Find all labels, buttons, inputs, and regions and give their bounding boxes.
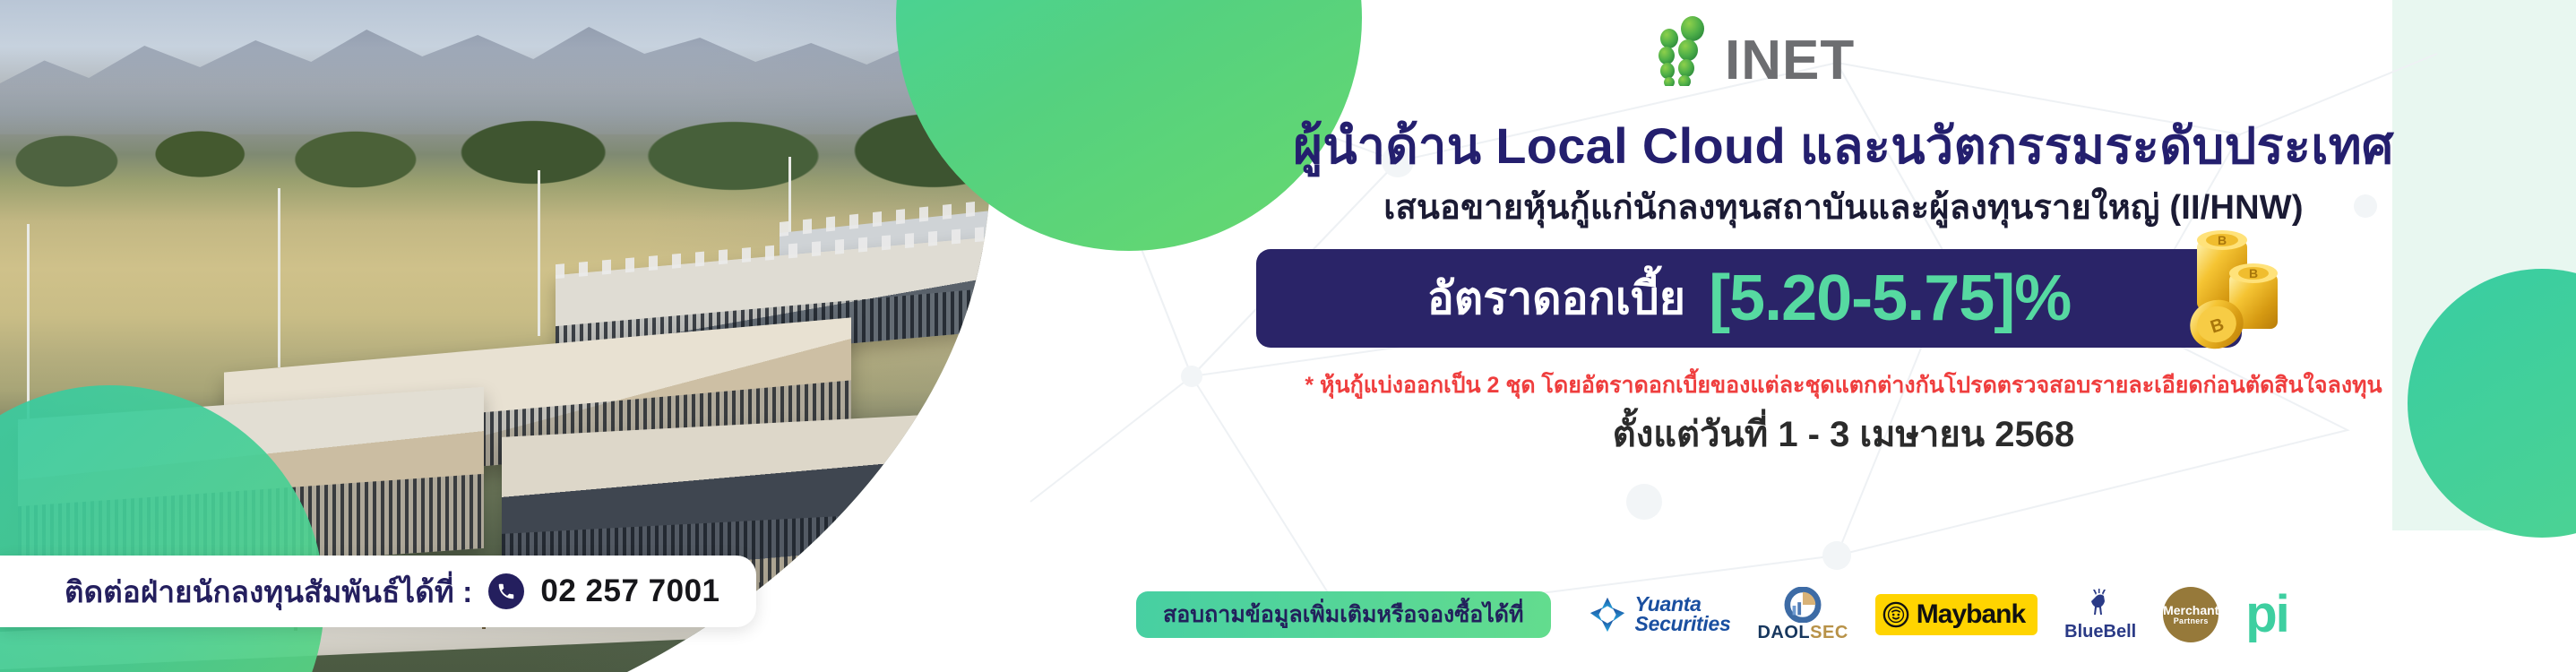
contact-phone-number[interactable]: 02 257 7001: [540, 573, 719, 609]
inet-bond-offering-banner: ติดต่อฝ่ายนักลงทุนสัมพันธ์ได้ที่ : 02 25…: [0, 0, 2576, 672]
inet-dots-icon: [1653, 16, 1719, 86]
partner-logo-pi[interactable]: pi: [2245, 597, 2288, 633]
svg-text:B: B: [2249, 266, 2258, 280]
promo-content-column: INET ผู้นำด้าน Local Cloud และนวัตกรรมระ…: [1111, 0, 2576, 672]
partner-logo-bluebell[interactable]: BlueBell: [2064, 588, 2136, 642]
inquire-subscribe-button[interactable]: สอบถามข้อมูลเพิ่มเติมหรือจองซื้อได้ที่: [1136, 591, 1551, 638]
partner-logo-maybank[interactable]: Maybank: [1875, 594, 2038, 635]
yuanta-star-icon: [1587, 594, 1628, 635]
bond-disclaimer-text: * หุ้นกู้แบ่งออกเป็น 2 ชุด โดยอัตราดอกเบ…: [1111, 367, 2576, 403]
pi-wordmark: pi: [2245, 597, 2288, 633]
interest-rate-box: อัตราดอกเบี้ย [5.20-5.75]%: [1256, 249, 2242, 348]
maybank-tiger-icon: [1882, 601, 1909, 628]
contact-label: ติดต่อฝ่ายนักลงทุนสัมพันธ์ได้ที่ :: [65, 568, 472, 616]
interest-rate-value: [5.20-5.75]%: [1709, 266, 2071, 331]
partner-logo-list: Yuanta Securities DAOLSEC: [1587, 587, 2288, 643]
svg-text:B: B: [2218, 233, 2227, 247]
daol-pie-icon: [1782, 587, 1823, 623]
partner-logo-merchant-partners[interactable]: Merchant Partners: [2163, 587, 2218, 642]
inet-logo: INET: [1653, 16, 1855, 86]
page-title: ผู้นำด้าน Local Cloud และนวัตกรรมระดับปร…: [1111, 106, 2576, 185]
bluebell-deer-icon: [2084, 588, 2116, 622]
gold-coins-icon: B B B: [2177, 224, 2294, 354]
interest-rate-label: อัตราดอกเบี้ย: [1427, 263, 1685, 334]
partner-logo-daol[interactable]: DAOLSEC: [1757, 587, 1848, 643]
partner-bar: สอบถามข้อมูลเพิ่มเติมหรือจองซื้อได้ที่: [1111, 582, 2576, 647]
bluebell-wordmark: BlueBell: [2064, 622, 2136, 642]
inet-wordmark: INET: [1725, 35, 1855, 86]
partner-logo-yuanta[interactable]: Yuanta Securities: [1587, 594, 1731, 635]
investor-relations-contact-card: ติดต่อฝ่ายนักลงทุนสัมพันธ์ได้ที่ : 02 25…: [0, 556, 756, 627]
maybank-wordmark: Maybank: [1917, 599, 2025, 630]
offering-date-range: ตั้งแต่วันที่ 1 - 3 เมษายน 2568: [1111, 405, 2576, 462]
yuanta-line2: Securities: [1635, 615, 1731, 634]
page-subtitle: เสนอขายหุ้นกู้แก่นักลงทุนสถาบันและผู้ลงท…: [1111, 179, 2576, 234]
daol-wordmark: DAOLSEC: [1757, 623, 1848, 643]
phone-icon: [488, 573, 524, 609]
merchant-line1: Merchant: [2163, 604, 2218, 617]
merchant-line2: Partners: [2174, 616, 2209, 625]
